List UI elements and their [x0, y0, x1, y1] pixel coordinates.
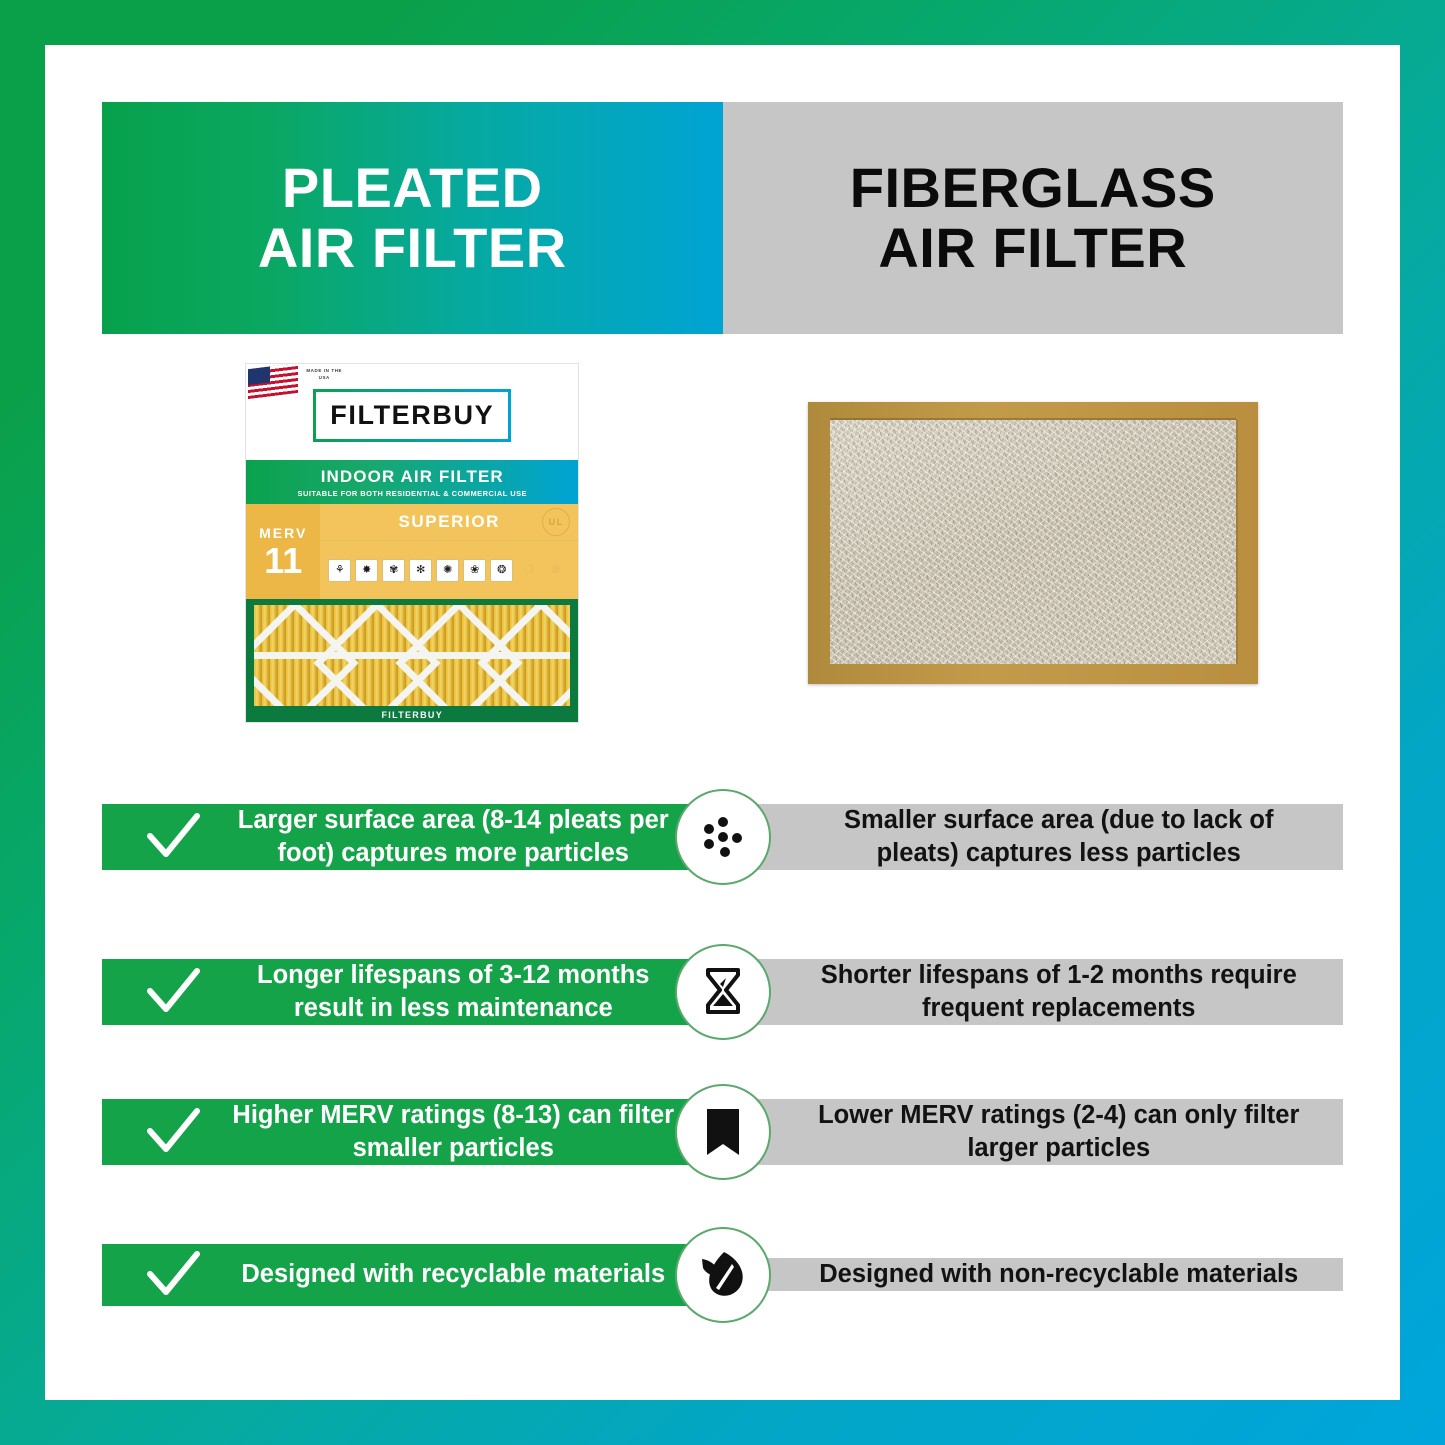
made-in-usa-label: MADE IN THE USA	[304, 368, 344, 382]
fiberglass-filter-image	[808, 402, 1258, 684]
product-image-band: MADE IN THE USA FILTERBUY INDOOR AIR FIL…	[102, 334, 1343, 752]
checkmark-icon	[142, 806, 204, 868]
box-indoor-band: INDOOR AIR FILTER SUITABLE FOR BOTH RESI…	[246, 460, 578, 504]
box-tier-and-icons: SUPERIOR UL ⚘ ✸ ✾ ✻ ✺ ❀	[320, 504, 578, 599]
row-3-fiberglass-text: Lower MERV ratings (2-4) can only filter…	[811, 1099, 1308, 1164]
row-4-pleated-text: Designed with recyclable materials	[226, 1258, 681, 1291]
usa-flag-icon	[248, 364, 298, 399]
cardboard-seam-right	[1236, 420, 1238, 664]
box-merv-row: MERV 11 SUPERIOR UL ⚘ ✸	[246, 504, 578, 599]
box-band-main: INDOOR AIR FILTER	[321, 467, 504, 487]
comparison-row: Higher MERV ratings (8-13) can filter sm…	[102, 1062, 1343, 1202]
row-2-pleated-cell: Longer lifespans of 3-12 months result i…	[102, 959, 723, 1024]
box-top-section: MADE IN THE USA FILTERBUY	[246, 364, 578, 460]
checkmark-icon	[142, 961, 204, 1023]
smoke-icon: ✻	[409, 559, 432, 582]
header-fiberglass: FIBERGLASS AIR FILTER	[723, 102, 1344, 334]
row-4-pleated-cell: Designed with recyclable materials	[102, 1244, 723, 1306]
virus-icon: ✾	[382, 559, 405, 582]
row-4-fiberglass-text: Designed with non-recyclable materials	[811, 1258, 1308, 1291]
comparison-board: PLEATED AIR FILTER FIBERGLASS AIR FILTER…	[102, 102, 1343, 1340]
row-1-fiberglass-text: Smaller surface area (due to lack of ple…	[811, 804, 1308, 869]
fiberglass-media-window	[830, 420, 1236, 664]
pleat-media	[254, 605, 570, 706]
product-cell-fiberglass	[723, 334, 1344, 752]
box-tier-label-wrap: SUPERIOR UL	[320, 504, 578, 541]
mold-icon: ❂	[490, 559, 513, 582]
leaf-icon	[675, 1227, 771, 1323]
checkmark-icon	[142, 1244, 204, 1306]
fiberglass-fiber-texture	[830, 420, 1236, 664]
dust-icon: ⚘	[328, 559, 351, 582]
row-3-pleated-text: Higher MERV ratings (8-13) can filter sm…	[226, 1099, 681, 1164]
filterbuy-logo-text: FILTERBUY	[330, 400, 494, 431]
odor-icon-ghost: ❍	[517, 559, 540, 582]
merv-value: 11	[264, 543, 302, 579]
row-2-fiberglass-cell: Shorter lifespans of 1-2 months require …	[723, 959, 1344, 1024]
pollen-icon: ✺	[436, 559, 459, 582]
box-footer-brand: FILTERBUY	[246, 710, 578, 720]
particles-icon	[675, 789, 771, 885]
product-cell-pleated: MADE IN THE USA FILTERBUY INDOOR AIR FIL…	[102, 334, 723, 752]
header-fiberglass-title: FIBERGLASS AIR FILTER	[850, 158, 1216, 279]
allergen-icon-ghost: ❊	[544, 559, 567, 582]
row-1-pleated-text: Larger surface area (8-14 pleats per foo…	[226, 804, 681, 869]
box-tier-label: SUPERIOR	[398, 512, 500, 532]
filterbuy-logo: FILTERBUY	[313, 389, 511, 442]
header-band: PLEATED AIR FILTER FIBERGLASS AIR FILTER	[102, 102, 1343, 334]
box-band-sub: SUITABLE FOR BOTH RESIDENTIAL & COMMERCI…	[298, 489, 527, 498]
row-2-fiberglass-text: Shorter lifespans of 1-2 months require …	[811, 959, 1308, 1024]
comparison-row: Larger surface area (8-14 pleats per foo…	[102, 752, 1343, 922]
outer-gradient-frame: PLEATED AIR FILTER FIBERGLASS AIR FILTER…	[0, 0, 1445, 1445]
pet-dander-icon: ❀	[463, 559, 486, 582]
header-pleated: PLEATED AIR FILTER	[102, 102, 723, 334]
row-1-pleated-cell: Larger surface area (8-14 pleats per foo…	[102, 804, 723, 869]
box-feature-icons: ⚘ ✸ ✾ ✻ ✺ ❀ ❂ ❍ ❊	[320, 541, 578, 599]
filterbuy-box-image: MADE IN THE USA FILTERBUY INDOOR AIR FIL…	[246, 364, 578, 722]
row-3-pleated-cell: Higher MERV ratings (8-13) can filter sm…	[102, 1099, 723, 1164]
comparison-section: Larger surface area (8-14 pleats per foo…	[102, 752, 1343, 1347]
bacteria-icon: ✸	[355, 559, 378, 582]
merv-badge: MERV 11	[246, 504, 320, 599]
cardboard-seam-top	[830, 418, 1236, 420]
row-1-fiberglass-cell: Smaller surface area (due to lack of ple…	[723, 804, 1344, 869]
bookmark-icon	[675, 1084, 771, 1180]
checkmark-icon	[142, 1101, 204, 1163]
header-pleated-title: PLEATED AIR FILTER	[258, 158, 567, 279]
white-mat: PLEATED AIR FILTER FIBERGLASS AIR FILTER…	[45, 45, 1400, 1400]
ul-seal-icon: UL	[542, 508, 570, 536]
comparison-row: Designed with recyclable materials Desig…	[102, 1202, 1343, 1347]
box-pleat-window: FILTERBUY	[246, 599, 578, 722]
comparison-row: Longer lifespans of 3-12 months result i…	[102, 922, 1343, 1062]
row-2-pleated-text: Longer lifespans of 3-12 months result i…	[226, 959, 681, 1024]
hourglass-icon	[675, 944, 771, 1040]
merv-label: MERV	[259, 525, 307, 541]
row-3-fiberglass-cell: Lower MERV ratings (2-4) can only filter…	[723, 1099, 1344, 1164]
row-4-fiberglass-cell: Designed with non-recyclable materials	[723, 1258, 1344, 1291]
